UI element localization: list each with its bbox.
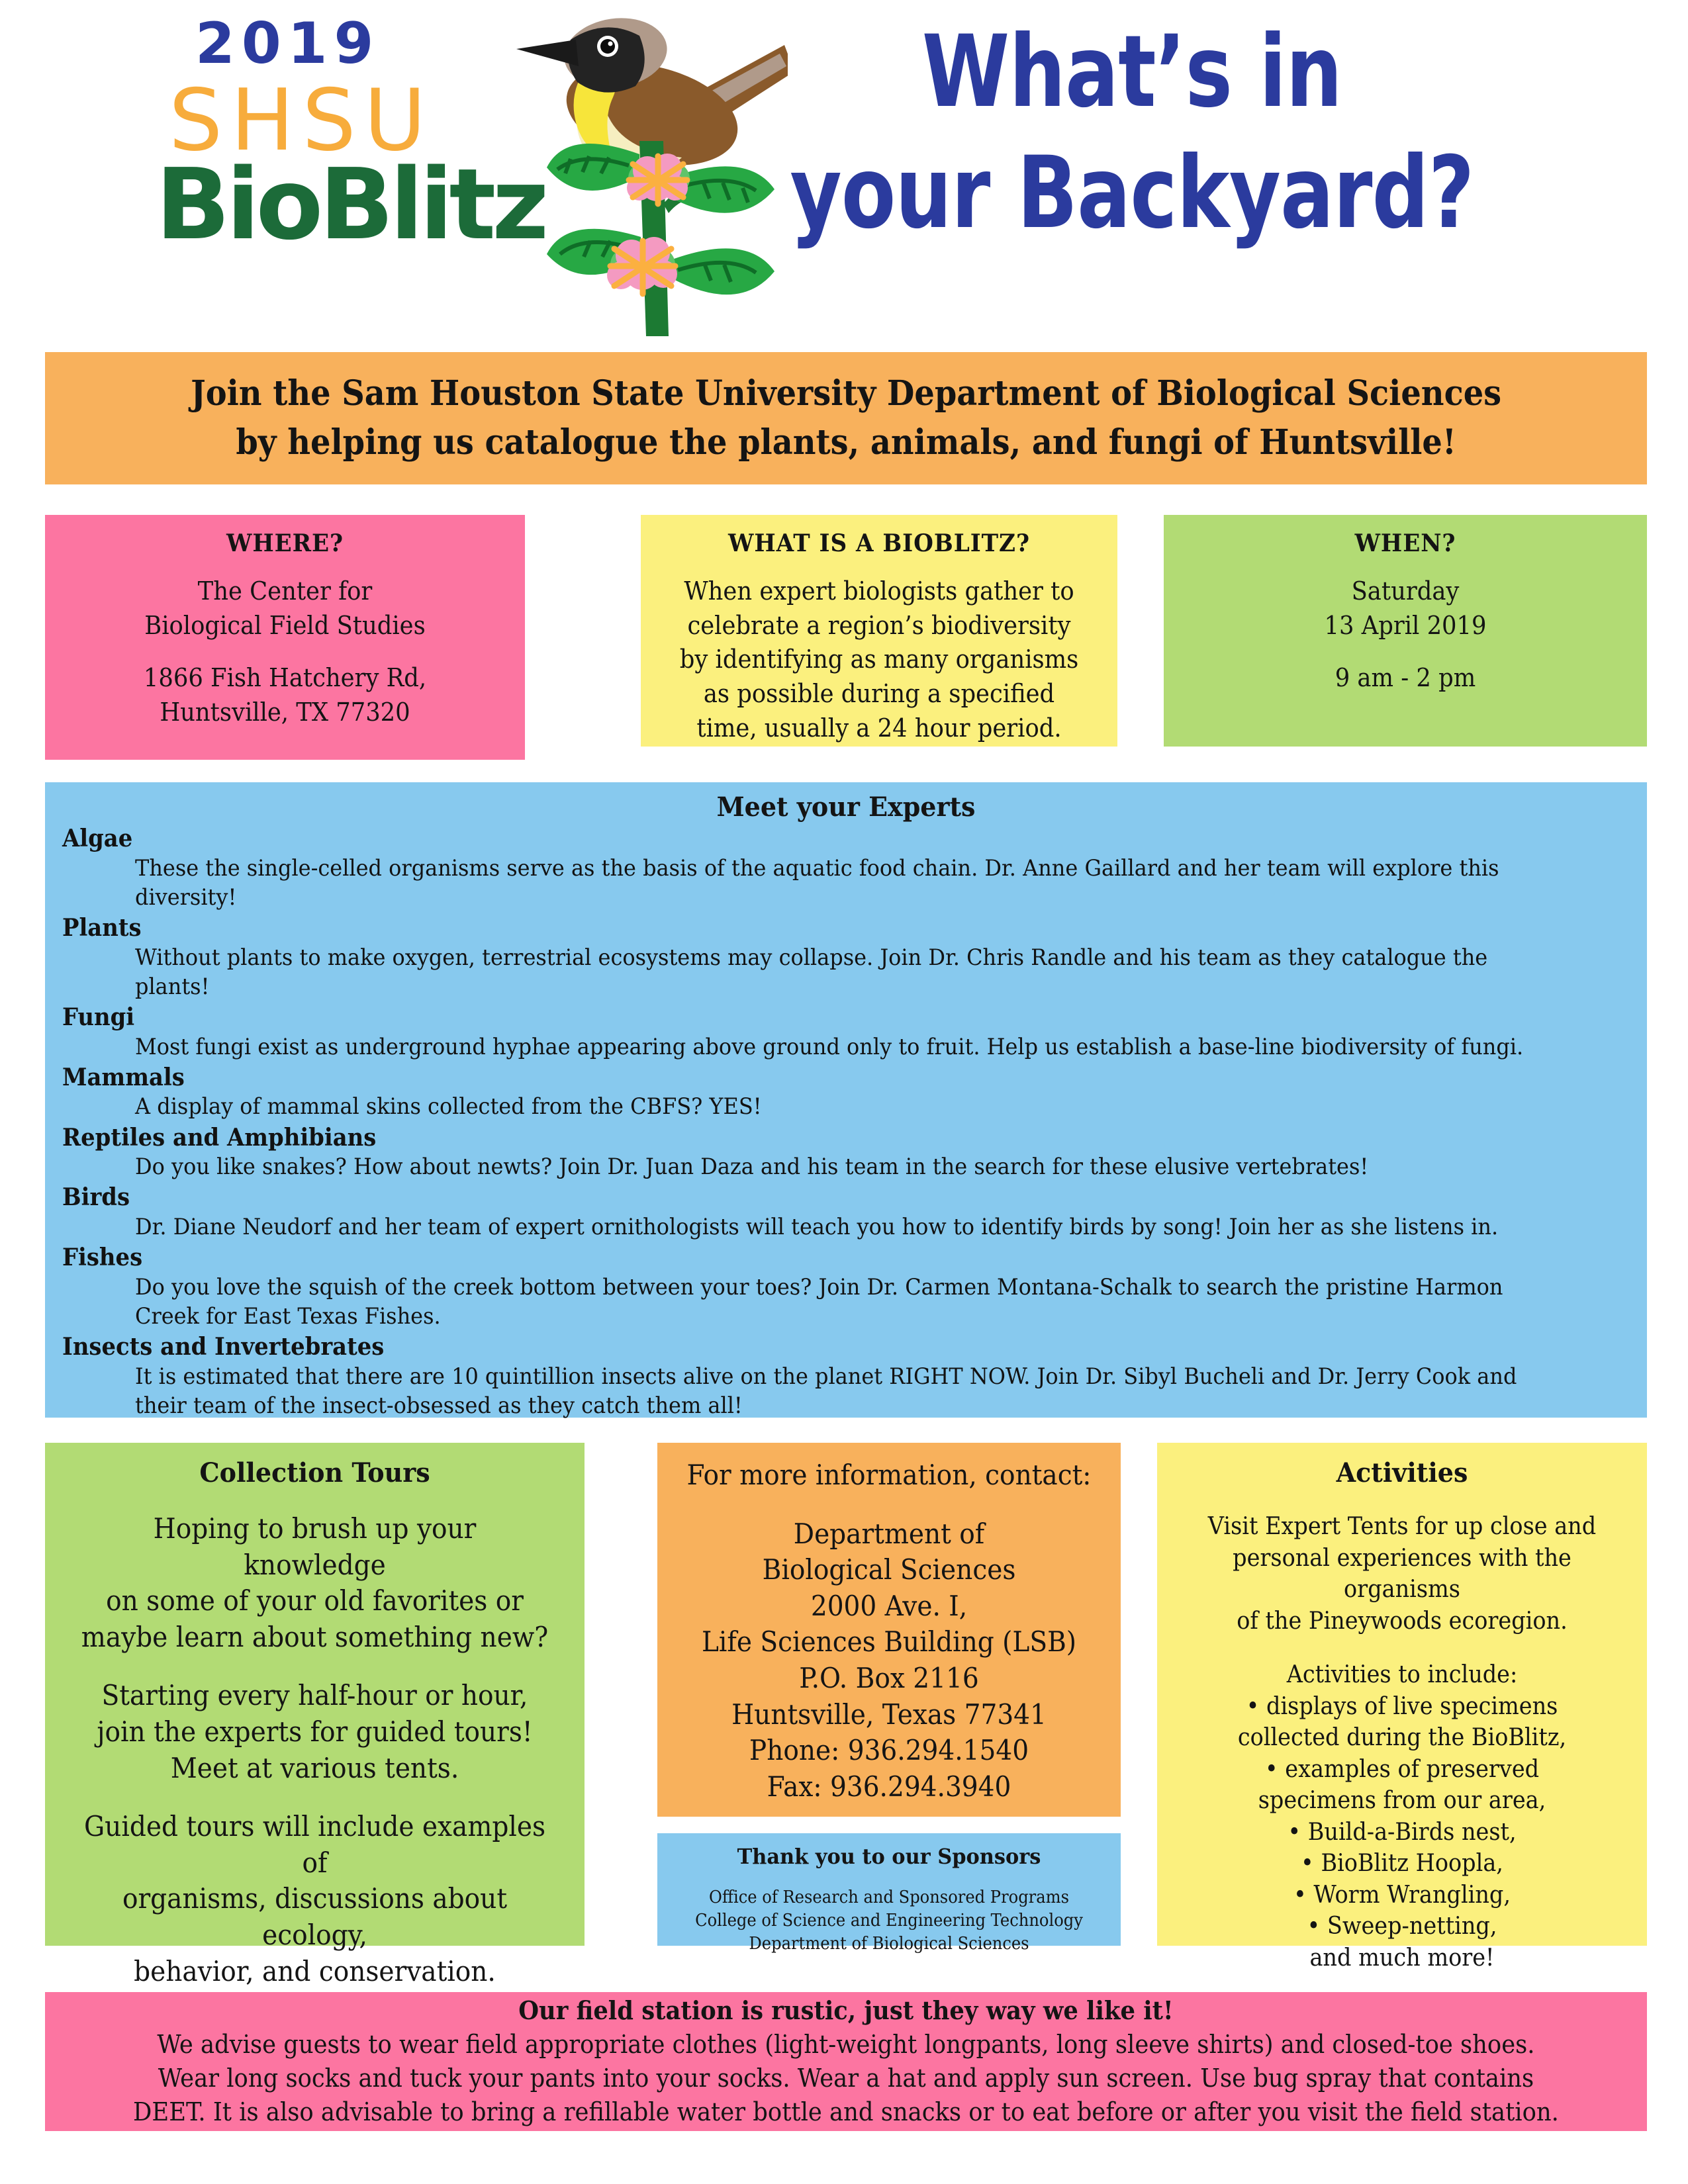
sponsors-box: Thank you to our Sponsors Office of Rese… — [657, 1833, 1121, 1946]
expert-category: Fungi — [62, 1003, 1536, 1032]
expert-entry: Fishes Do you love the squish of the cre… — [62, 1243, 1630, 1331]
info-box-where: WHERE? The Center for Biological Field S… — [45, 515, 525, 760]
what-line-1: When expert biologists gather to — [657, 574, 1101, 609]
bioblitz-logo: 2019 SHSU BioBlitz — [142, 5, 645, 336]
expert-category: Reptiles and Amphibians — [62, 1123, 1536, 1153]
expert-description: It is estimated that there are 10 quinti… — [135, 1362, 1540, 1420]
expert-entry: Algae These the single-celled organisms … — [62, 824, 1630, 912]
contact-line-4: Life Sciences Building (LSB) — [686, 1624, 1092, 1661]
list-item: • examples of preserved — [1187, 1754, 1618, 1786]
expert-category: Birds — [62, 1183, 1536, 1212]
expert-description: Dr. Diane Neudorf and her team of expert… — [135, 1212, 1540, 1242]
info-box-when-body: Saturday 13 April 2019 9 am - 2 pm — [1181, 574, 1630, 696]
list-item: and much more! — [1187, 1942, 1618, 1974]
tours-paragraph: Hoping to brush up your knowledge on som… — [80, 1511, 550, 1655]
info-box-where-body: The Center for Biological Field Studies … — [62, 574, 508, 730]
where-line-1: The Center for — [62, 574, 508, 609]
expert-category: Algae — [62, 824, 1536, 854]
sponsor-line-3: Department of Biological Sciences — [683, 1933, 1094, 1956]
poster-page: 2019 SHSU BioBlitz — [0, 0, 1688, 2184]
tours-p3-l2: organisms, discussions about ecology, — [80, 1881, 550, 1953]
info-box-when: WHEN? Saturday 13 April 2019 9 am - 2 pm — [1164, 515, 1647, 747]
tours-p2-l1: Starting every half-hour or hour, — [80, 1678, 550, 1714]
expert-entry: Birds Dr. Diane Neudorf and her team of … — [62, 1183, 1630, 1242]
activities-intro-l3: of the Pineywoods ecoregion. — [1187, 1606, 1618, 1637]
expert-description: Do you like snakes? How about newts? Joi… — [135, 1152, 1540, 1181]
activities-list: Activities to include: • displays of liv… — [1187, 1659, 1618, 1974]
contact-line-2: Biological Sciences — [686, 1552, 1092, 1588]
expert-entry: Plants Without plants to make oxygen, te… — [62, 913, 1630, 1001]
field-station-notice: Our field station is rustic, just they w… — [45, 1992, 1647, 2131]
poster-header: 2019 SHSU BioBlitz — [0, 0, 1688, 338]
experts-section-title: Meet your Experts — [101, 792, 1591, 823]
expert-description: Do you love the squish of the creek bott… — [135, 1273, 1540, 1331]
invitation-banner: Join the Sam Houston State University De… — [45, 352, 1647, 484]
expert-category: Fishes — [62, 1243, 1536, 1273]
list-item: • Sweep-netting, — [1187, 1911, 1618, 1942]
expert-entry: Mammals A display of mammal skins collec… — [62, 1063, 1630, 1122]
collection-tours-box: Collection Tours Hoping to brush up your… — [45, 1443, 585, 1946]
footer-heading: Our field station is rustic, just they w… — [518, 1994, 1173, 2028]
lower-columns: Collection Tours Hoping to brush up your… — [45, 1443, 1647, 1972]
contact-line-6: Huntsville, Texas 77341 — [686, 1697, 1092, 1733]
expert-entry: Insects and Invertebrates It is estimate… — [62, 1332, 1630, 1420]
page-title-line1: What’s in — [735, 12, 1529, 133]
what-line-3: by identifying as many organisms — [657, 643, 1101, 677]
page-title-line2: your Backyard? — [735, 133, 1529, 254]
when-line-2: 13 April 2019 — [1181, 609, 1630, 643]
contact-box: For more information, contact: Departmen… — [657, 1443, 1121, 1817]
expert-entry: Reptiles and Amphibians Do you like snak… — [62, 1123, 1630, 1182]
where-line-3: 1866 Fish Hatchery Rd, — [62, 661, 508, 696]
contact-address: Department of Biological Sciences 2000 A… — [686, 1516, 1092, 1805]
activities-intro-l1: Visit Expert Tents for up close and — [1187, 1511, 1618, 1543]
when-line-1: Saturday — [1181, 574, 1630, 609]
expert-category: Insects and Invertebrates — [62, 1332, 1536, 1362]
activities-intro: Visit Expert Tents for up close and pers… — [1187, 1511, 1618, 1637]
banner-line-2: by helping us catalogue the plants, anim… — [191, 418, 1501, 467]
sponsor-line-2: College of Science and Engineering Techn… — [683, 1909, 1094, 1933]
logo-bioblitz-text: BioBlitz — [156, 148, 545, 261]
tours-p2-l2: join the experts for guided tours! — [80, 1714, 550, 1751]
contact-heading: For more information, contact: — [686, 1457, 1092, 1494]
tours-p1-l1: Hoping to brush up your knowledge — [80, 1511, 550, 1583]
when-line-3: 9 am - 2 pm — [1181, 661, 1630, 696]
activities-list-label: Activities to include: — [1187, 1659, 1618, 1691]
list-item: specimens from our area, — [1187, 1785, 1618, 1817]
what-line-5: time, usually a 24 hour period. — [657, 711, 1101, 746]
info-boxes-row: WHERE? The Center for Biological Field S… — [45, 515, 1647, 760]
footer-line-1: We advise guests to wear field appropria… — [133, 2028, 1559, 2062]
logo-year-text: 2019 — [195, 11, 380, 77]
contact-fax: Fax: 936.294.3940 — [686, 1769, 1092, 1805]
tours-p3-l1: Guided tours will include examples of — [80, 1809, 550, 1881]
expert-description: A display of mammal skins collected from… — [135, 1092, 1540, 1121]
list-item: • BioBlitz Hoopla, — [1187, 1848, 1618, 1880]
list-item: collected during the BioBlitz, — [1187, 1722, 1618, 1754]
list-item: • displays of live specimens — [1187, 1691, 1618, 1723]
expert-category: Plants — [62, 913, 1536, 943]
what-line-2: celebrate a region’s biodiversity — [657, 609, 1101, 643]
where-line-2: Biological Field Studies — [62, 609, 508, 643]
expert-category: Mammals — [62, 1063, 1536, 1093]
tours-p2-l3: Meet at various tents. — [80, 1751, 550, 1787]
info-box-what-heading: WHAT IS A BIOBLITZ? — [653, 529, 1105, 557]
meet-your-experts-section: Meet your Experts Algae These the single… — [45, 782, 1647, 1418]
sponsors-heading: Thank you to our Sponsors — [679, 1844, 1100, 1869]
collection-tours-heading: Collection Tours — [75, 1457, 555, 1488]
sponsors-list: Office of Research and Sponsored Program… — [683, 1886, 1094, 1955]
contact-line-5: P.O. Box 2116 — [686, 1661, 1092, 1697]
footer-line-3: DEET. It is also advisable to bring a re… — [133, 2095, 1559, 2129]
banner-line-1: Join the Sam Houston State University De… — [191, 369, 1501, 418]
info-box-when-heading: WHEN? — [1176, 529, 1635, 557]
activities-intro-l2: personal experiences with the organisms — [1187, 1543, 1618, 1606]
info-box-what-body: When expert biologists gather to celebra… — [657, 574, 1101, 745]
expert-entry: Fungi Most fungi exist as underground hy… — [62, 1003, 1630, 1062]
activities-heading: Activities — [1182, 1457, 1622, 1488]
tours-p3-l3: behavior, and conservation. — [80, 1954, 550, 1990]
tours-paragraph: Starting every half-hour or hour, join t… — [80, 1678, 550, 1786]
expert-description: These the single-celled organisms serve … — [135, 854, 1540, 912]
tours-p1-l2: on some of your old favorites or — [80, 1583, 550, 1619]
footer-line-2: Wear long socks and tuck your pants into… — [133, 2062, 1559, 2095]
info-box-where-heading: WHERE? — [57, 529, 513, 557]
expert-description: Most fungi exist as underground hyphae a… — [135, 1032, 1540, 1062]
tours-paragraph: Guided tours will include examples of or… — [80, 1809, 550, 1989]
expert-description: Without plants to make oxygen, terrestri… — [135, 943, 1540, 1001]
sponsor-line-1: Office of Research and Sponsored Program… — [683, 1886, 1094, 1909]
activities-box: Activities Visit Expert Tents for up clo… — [1157, 1443, 1647, 1946]
list-item: • Worm Wrangling, — [1187, 1880, 1618, 1911]
list-item: • Build-a-Birds nest, — [1187, 1817, 1618, 1848]
footer-body: We advise guests to wear field appropria… — [133, 2028, 1559, 2129]
where-line-4: Huntsville, TX 77320 — [62, 696, 508, 730]
page-title: What’s in your Backyard? — [735, 12, 1529, 254]
contact-phone: Phone: 936.294.1540 — [686, 1733, 1092, 1769]
what-line-4: as possible during a specified — [657, 677, 1101, 711]
contact-line-3: 2000 Ave. I, — [686, 1588, 1092, 1625]
tours-p1-l3: maybe learn about something new? — [80, 1619, 550, 1656]
info-box-what-is-a-bioblitz: WHAT IS A BIOBLITZ? When expert biologis… — [641, 515, 1117, 747]
contact-line-1: Department of — [686, 1516, 1092, 1553]
